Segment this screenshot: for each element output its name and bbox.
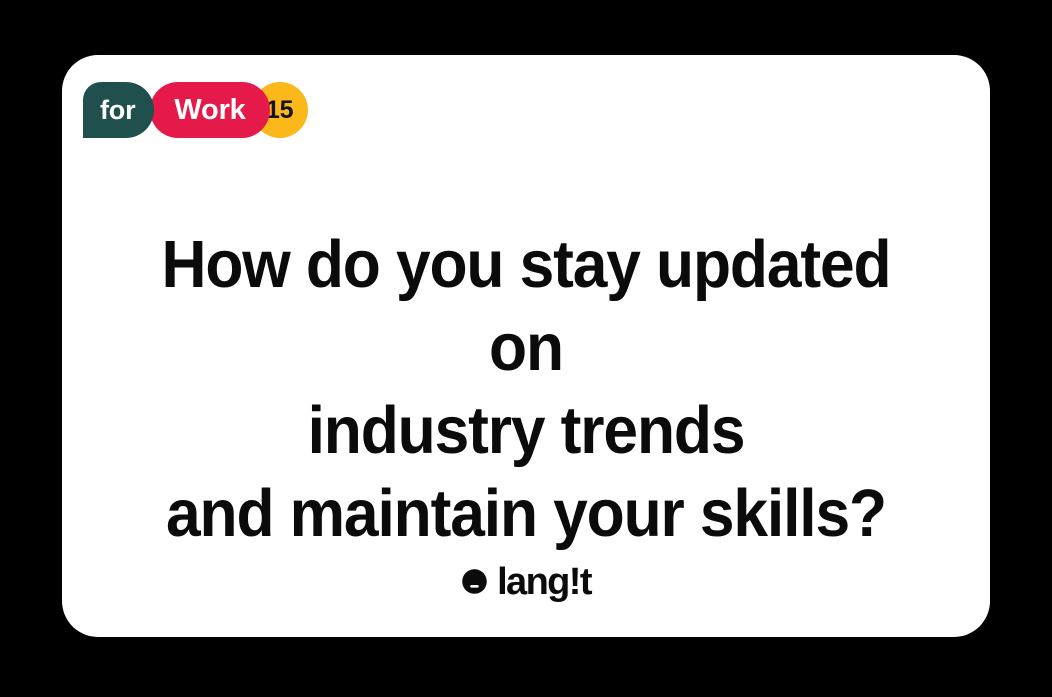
brand-logo: lang!t bbox=[62, 562, 990, 600]
screen-background: for Work 15 How do you stay updated on i… bbox=[0, 0, 1052, 697]
question-line-1: How do you stay updated on bbox=[132, 223, 921, 389]
badge-for[interactable]: for bbox=[83, 82, 154, 138]
question-line-2: industry trends bbox=[132, 389, 921, 472]
speech-bubble-icon bbox=[461, 568, 488, 595]
question-text: How do you stay updated on industry tren… bbox=[62, 223, 990, 555]
question-line-3: and maintain your skills? bbox=[132, 472, 921, 555]
badge-work[interactable]: Work bbox=[150, 82, 269, 138]
category-badge-group: for Work 15 bbox=[83, 82, 308, 138]
brand-wordmark: lang!t bbox=[497, 563, 591, 601]
question-card: for Work 15 How do you stay updated on i… bbox=[62, 55, 990, 637]
